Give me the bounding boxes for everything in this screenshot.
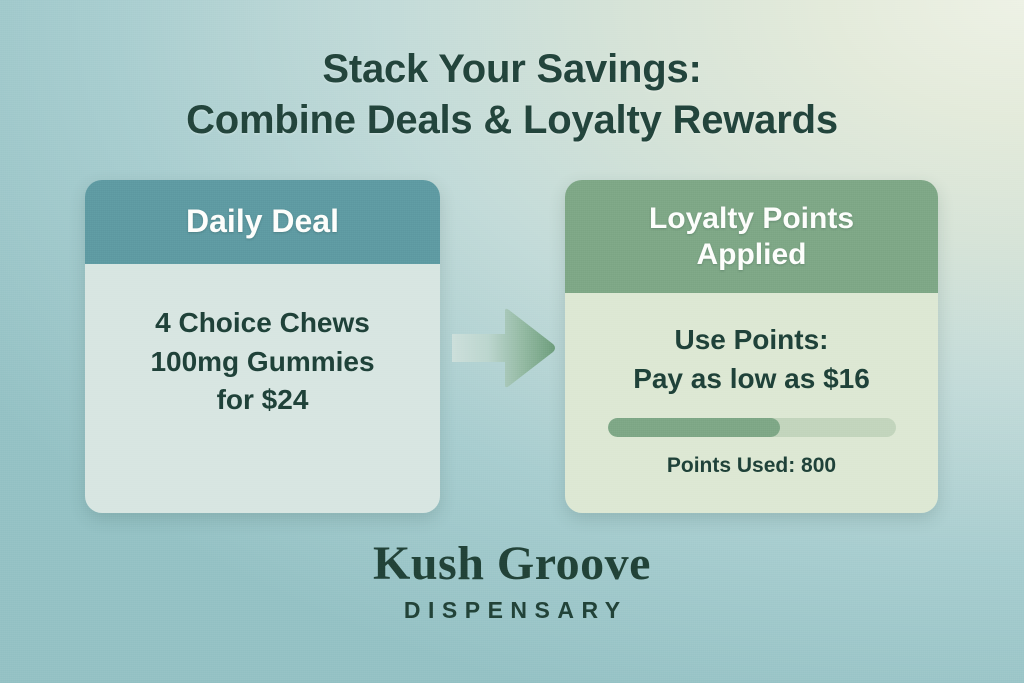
loyalty-points-card-body: Use Points: Pay as low as $16 Points Use…: [565, 293, 938, 513]
points-progress-bar: [608, 418, 896, 437]
brand-logo: Kush Groove DISPENSARY: [0, 540, 1024, 624]
points-used-label: Points Used: 800: [667, 454, 836, 478]
daily-deal-description: 4 Choice Chews 100mg Gummies for $24: [150, 304, 374, 420]
daily-deal-card: Daily Deal 4 Choice Chews 100mg Gummies …: [85, 180, 440, 513]
daily-deal-card-body: 4 Choice Chews 100mg Gummies for $24: [85, 264, 440, 513]
loyalty-points-description: Use Points: Pay as low as $16: [633, 321, 870, 398]
page-title-line-1: Stack Your Savings:: [0, 44, 1024, 95]
page-title: Stack Your Savings: Combine Deals & Loya…: [0, 44, 1024, 146]
loyalty-points-card-header: Loyalty Points Applied: [565, 180, 938, 293]
promo-graphic: Stack Your Savings: Combine Deals & Loya…: [0, 0, 1024, 683]
loyalty-points-card: Loyalty Points Applied Use Points: Pay a…: [565, 180, 938, 513]
daily-deal-card-header: Daily Deal: [85, 180, 440, 264]
brand-logo-name: Kush Groove: [0, 540, 1024, 589]
brand-logo-subtitle: DISPENSARY: [0, 597, 1024, 624]
daily-deal-card-title: Daily Deal: [186, 203, 339, 241]
page-title-line-2: Combine Deals & Loyalty Rewards: [0, 95, 1024, 146]
points-progress-bar-fill: [608, 418, 781, 437]
loyalty-points-card-title: Loyalty Points Applied: [649, 201, 854, 272]
right-arrow-icon: [452, 307, 556, 389]
